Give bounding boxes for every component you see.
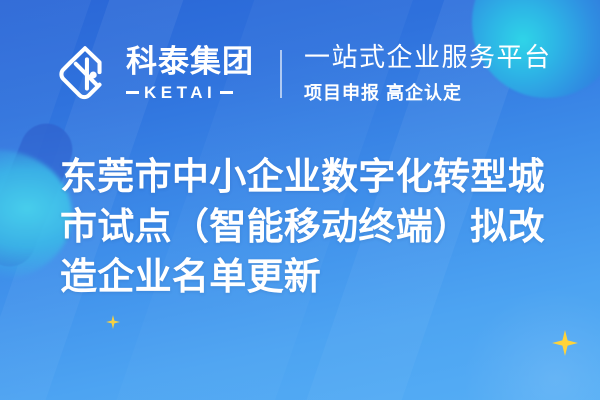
four-point-star-icon	[106, 315, 120, 329]
brand-name-en-row: KETAI	[126, 83, 254, 103]
banner-header: 科泰集团 KETAI 一站式企业服务平台 项目申报 高企认定	[54, 32, 552, 116]
banner-headline: 东莞市中小企业数字化转型城市试点（智能移动终端）拟改造企业名单更新	[60, 152, 568, 302]
right-rule-decoration	[220, 91, 233, 94]
logo-wordmark: 科泰集团 KETAI	[126, 45, 254, 102]
slogan-main: 一站式企业服务平台	[304, 43, 552, 73]
slogan-block: 一站式企业服务平台 项目申报 高企认定	[304, 43, 552, 106]
light-spot-bottom-right-decoration	[460, 290, 600, 400]
vertical-divider	[280, 50, 282, 98]
ketai-diamond-kd-logo-icon	[54, 43, 116, 105]
promo-banner: 科泰集团 KETAI 一站式企业服务平台 项目申报 高企认定 东莞市中小企业数字…	[0, 0, 600, 400]
brand-name-en: KETAI	[144, 83, 216, 103]
left-rule-decoration	[126, 91, 139, 94]
brand-name-cn: 科泰集团	[126, 45, 254, 78]
slogan-sub: 项目申报 高企认定	[304, 79, 552, 105]
